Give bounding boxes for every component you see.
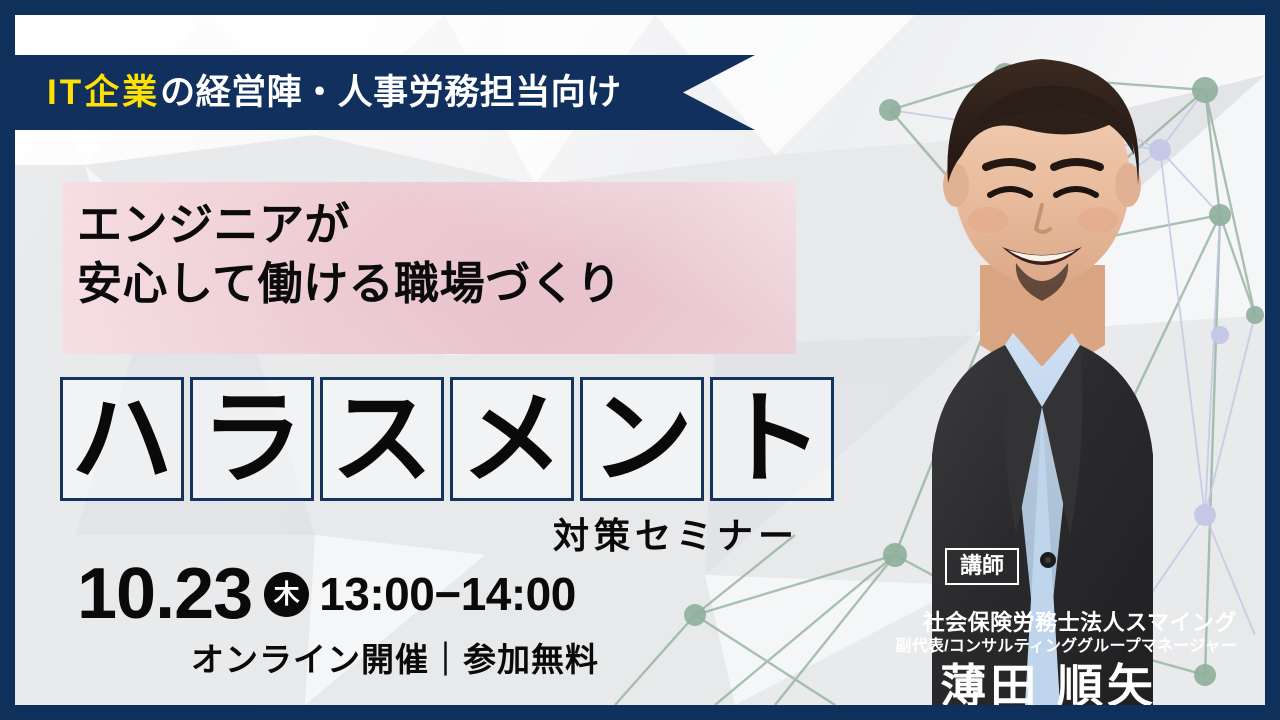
speaker-photo — [820, 15, 1265, 705]
poster-canvas: IT企業の経営陣・人事労務担当向け エンジニアが 安心して働ける職場づくり ハ … — [15, 15, 1265, 705]
title-subtitle: 対策セミナー — [15, 507, 799, 559]
headline-line-1: エンジニアが — [77, 195, 797, 254]
title-char-box: ス — [320, 377, 444, 501]
main-title-boxes: ハ ラ ス メ ン ト — [60, 377, 834, 501]
speaker-name: 薄田 順矢 — [15, 660, 1265, 705]
title-char-box: ト — [710, 377, 834, 501]
ribbon-highlight: IT企業 — [47, 73, 160, 112]
title-char-box: ン — [580, 377, 704, 501]
title-char-box: メ — [450, 377, 574, 501]
ribbon-text: IT企業の経営陣・人事労務担当向け — [47, 75, 622, 110]
audience-ribbon: IT企業の経営陣・人事労務担当向け — [15, 55, 755, 130]
headline-line-2: 安心して働ける職場づくり — [77, 254, 797, 313]
title-char-box: ラ — [190, 377, 314, 501]
ribbon-rest: の経営陣・人事労務担当向け — [160, 73, 622, 112]
headline: エンジニアが 安心して働ける職場づくり — [77, 195, 797, 314]
speaker-portrait — [820, 15, 1265, 705]
speaker-badge: 講師 — [945, 548, 1019, 585]
speaker-role: 副代表/コンサルティンググループマネージャー — [15, 632, 1265, 656]
title-char-box: ハ — [60, 377, 184, 501]
seminar-poster: IT企業の経営陣・人事労務担当向け エンジニアが 安心して働ける職場づくり ハ … — [0, 0, 1280, 720]
